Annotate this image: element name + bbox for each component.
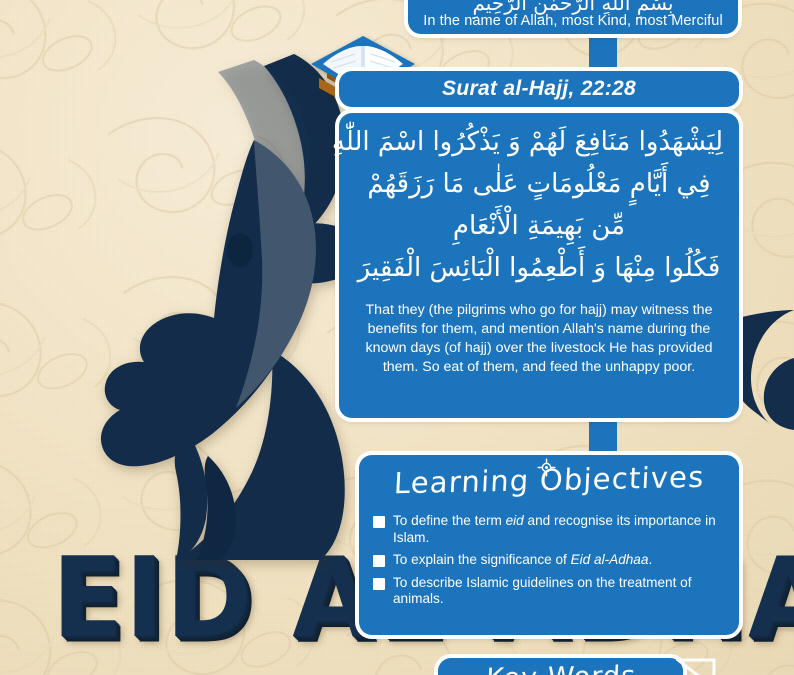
poster-stage: EID AL-ADHAA bbox=[0, 0, 794, 675]
objective-text: To define the term eid and recognise its… bbox=[393, 513, 725, 546]
surat-header-bar: Surat al-Hajj, 22:28 bbox=[339, 71, 739, 107]
key-words-ribbon-icon bbox=[676, 658, 716, 675]
list-item[interactable]: To explain the significance of Eid al-Ad… bbox=[373, 552, 725, 569]
bismillah-english: In the name of Allah, most Kind, most Me… bbox=[423, 13, 723, 29]
surat-heading-text: Surat al-Hajj, 22:28 bbox=[442, 77, 636, 101]
ayah-line: مِّن بَهِيمَةِ الْأَنْعَامِ bbox=[355, 205, 723, 247]
key-words-card: Key Words bbox=[438, 658, 683, 675]
ayah-line: فَكُلُوا مِنْهَا وَ أَطْعِمُوا الْبَائِس… bbox=[355, 247, 723, 289]
checkbox-icon[interactable] bbox=[373, 578, 385, 590]
list-item[interactable]: To describe Islamic guidelines on the tr… bbox=[373, 575, 725, 608]
ayah-card: لِيَشْهَدُوا مَنَافِعَ لَهُمْ وَ يَذْكُر… bbox=[339, 113, 739, 418]
checkbox-icon[interactable] bbox=[373, 555, 385, 567]
learning-objectives-title: Learning Objectives bbox=[393, 460, 705, 501]
learning-objectives-list: To define the term eid and recognise its… bbox=[373, 513, 725, 608]
ayah-line: فِي أَيَّامٍ مَعْلُومَاتٍ عَلٰى مَا رَزَ… bbox=[355, 163, 723, 205]
ayah-translation: That they (the pilgrims who go for hajj)… bbox=[355, 301, 723, 377]
ayah-line: لِيَشْهَدُوا مَنَافِعَ لَهُمْ وَ يَذْكُر… bbox=[355, 121, 723, 163]
learning-objectives-card: Learning Objectives To define the term e… bbox=[359, 455, 739, 635]
checkbox-icon[interactable] bbox=[373, 516, 385, 528]
objective-text: To describe Islamic guidelines on the tr… bbox=[393, 575, 725, 608]
sheep-head-silhouette bbox=[738, 300, 794, 480]
key-words-title: Key Words bbox=[485, 661, 637, 675]
learning-objectives-title-wrap: Learning Objectives bbox=[373, 463, 725, 509]
bismillah-card: بِسْمِ اللهِ الرَّحْمٰنِ الرَّحِيْمِ In … bbox=[408, 0, 738, 34]
bismillah-arabic: بِسْمِ اللهِ الرَّحْمٰنِ الرَّحِيْمِ bbox=[472, 0, 673, 13]
list-item[interactable]: To define the term eid and recognise its… bbox=[373, 513, 725, 546]
objective-text: To explain the significance of Eid al-Ad… bbox=[393, 552, 652, 569]
